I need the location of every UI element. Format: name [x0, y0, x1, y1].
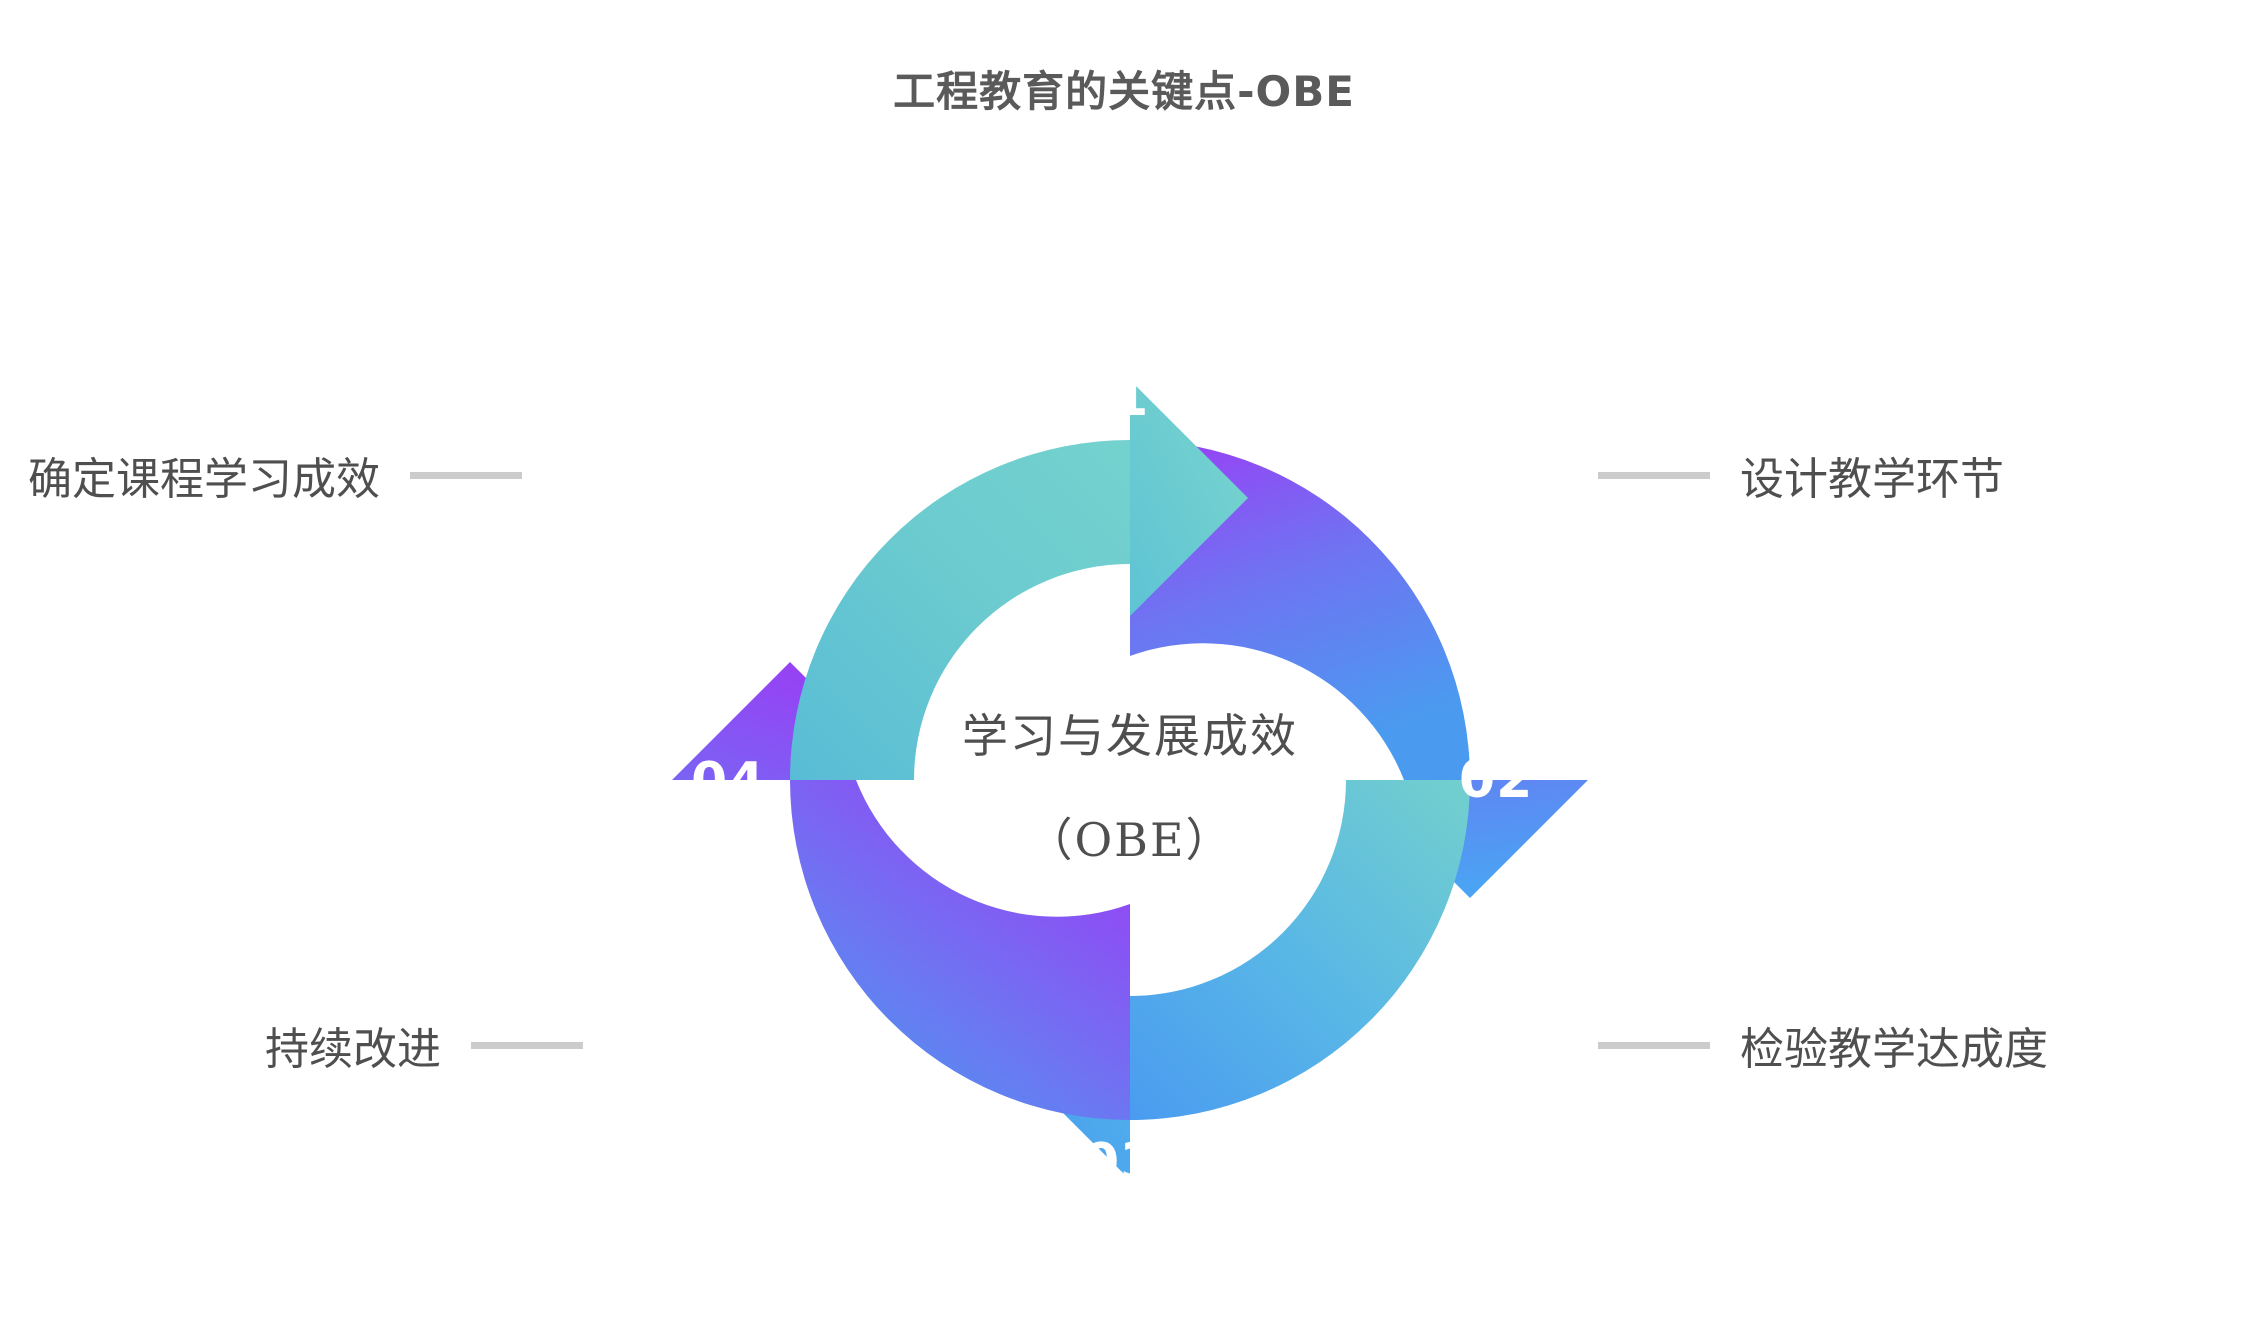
callout-step-02[interactable]: 设计教学环节	[1598, 443, 2004, 507]
cycle-segment-03-band	[1130, 780, 1470, 1120]
callout-step-01[interactable]: 确定课程学习成效	[28, 443, 522, 507]
callout-connector-line	[410, 472, 522, 479]
callout-step-04[interactable]: 持续改进	[265, 1013, 583, 1077]
callout-step-02-label: 设计教学环节	[1740, 443, 2004, 507]
callout-connector-line	[1598, 1042, 1710, 1049]
callout-step-03-label: 检验教学达成度	[1740, 1013, 2048, 1077]
callout-step-01-label: 确定课程学习成效	[28, 443, 380, 507]
callout-connector-line	[471, 1042, 583, 1049]
callout-step-03[interactable]: 检验教学达成度	[1598, 1013, 2048, 1077]
cycle-ring-svg	[0, 0, 2248, 1330]
callout-connector-line	[1598, 472, 1710, 479]
callout-step-04-label: 持续改进	[265, 1013, 441, 1077]
cycle-segment-01-band	[790, 440, 1130, 780]
cycle-segment-04-band	[790, 780, 1130, 1120]
obe-cycle-diagram: 学习与发展成效 （OBE） 01 02 03 04 确定课程学习成效 持续改进 …	[0, 0, 2248, 1330]
